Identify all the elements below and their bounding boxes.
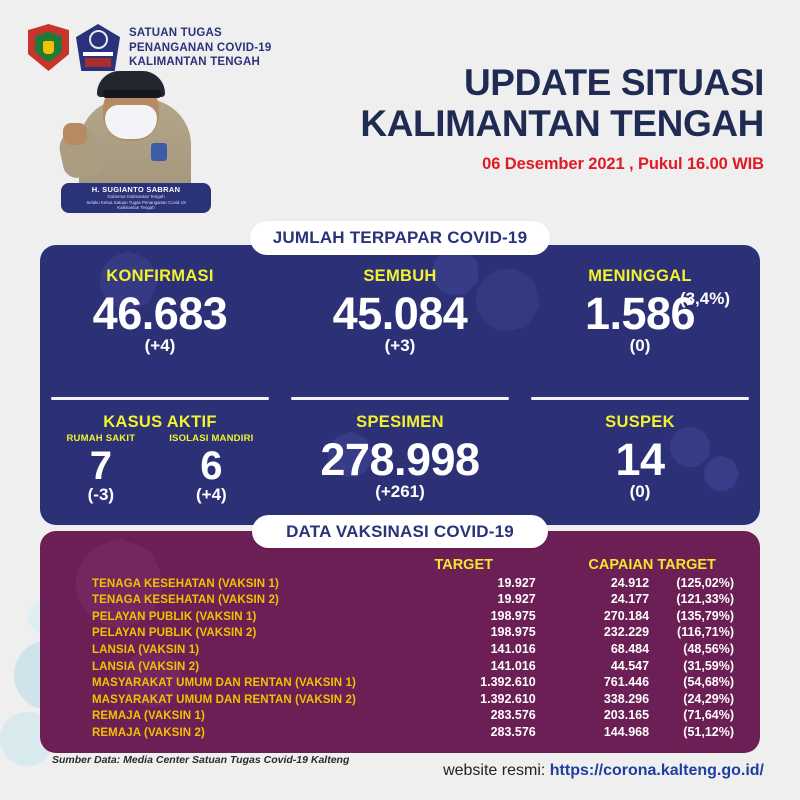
covid-stats-panel: KONFIRMASI 46.683 (+4) SEMBUH 45.084 (+3…: [40, 245, 760, 525]
org-line-1: SATUAN TUGAS: [129, 26, 271, 41]
table-row: REMAJA (VAKSIN 2) 283.576 144.968 (51,12…: [92, 725, 734, 739]
table-row: REMAJA (VAKSIN 1) 283.576 203.165 (71,64…: [92, 708, 734, 722]
vaccination-table: TARGET CAPAIAN TARGET TENAGA KESEHATAN (…: [40, 531, 760, 739]
stat-suspek: SUSPEK 14 (0): [520, 413, 760, 525]
row-category: PELAYAN PUBLIK (VAKSIN 1): [92, 611, 394, 623]
stats-row-bottom: KASUS AKTIF RUMAH SAKIT 7 (-3) ISOLASI M…: [40, 413, 760, 525]
row-target: 19.927: [394, 592, 536, 606]
stat-value: 1.586: [585, 290, 695, 338]
stat-kasus-aktif: KASUS AKTIF RUMAH SAKIT 7 (-3) ISOLASI M…: [40, 413, 280, 525]
row-achievement: 270.184: [536, 609, 649, 623]
row-achievement: 338.296: [536, 692, 649, 706]
governor-title-3: Kalimantan Tengah: [117, 205, 155, 211]
table-row: LANSIA (VAKSIN 2) 141.016 44.547 (31,59%…: [92, 659, 734, 673]
stat-delta: (+4): [145, 336, 176, 356]
table-row: PELAYAN PUBLIK (VAKSIN 2) 198.975 232.22…: [92, 625, 734, 639]
row-achievement: 203.165: [536, 708, 649, 722]
stat-value: 46.683: [93, 290, 228, 338]
row-achievement: 68.484: [536, 642, 649, 656]
governor-name: H. SUGIANTO SABRAN: [92, 185, 181, 194]
stat-label: KASUS AKTIF: [103, 413, 217, 432]
table-row: MASYARAKAT UMUM DAN RENTAN (VAKSIN 1) 1.…: [92, 675, 734, 689]
row-percentage: (71,64%): [649, 708, 734, 722]
stats-divider-group: [40, 397, 760, 400]
stat-sublabel: ISOLASI MANDIRI: [169, 433, 253, 444]
vaccination-table-header: TARGET CAPAIAN TARGET: [92, 557, 734, 573]
column-header-achievement: CAPAIAN TARGET: [534, 557, 734, 573]
title-line-2: KALIMANTAN TENGAH: [360, 103, 764, 144]
table-row: MASYARAKAT UMUM DAN RENTAN (VAKSIN 2) 1.…: [92, 692, 734, 706]
stat-konfirmasi: KONFIRMASI 46.683 (+4): [40, 267, 280, 407]
row-category: REMAJA (VAKSIN 1): [92, 710, 394, 722]
row-category: LANSIA (VAKSIN 2): [92, 661, 394, 673]
column-header-target: TARGET: [393, 557, 534, 573]
row-category: TENAGA KESEHATAN (VAKSIN 1): [92, 578, 394, 590]
divider-line: [531, 397, 749, 400]
row-target: 198.975: [394, 625, 536, 639]
stats-row-top: KONFIRMASI 46.683 (+4) SEMBUH 45.084 (+3…: [40, 267, 760, 407]
stat-value: 7: [90, 445, 112, 487]
page-title: UPDATE SITUASI KALIMANTAN TENGAH 06 Dese…: [360, 62, 764, 174]
stat-label: MENINGGAL: [588, 267, 692, 286]
row-percentage: (135,79%): [649, 609, 734, 623]
table-row: PELAYAN PUBLIK (VAKSIN 1) 198.975 270.18…: [92, 609, 734, 623]
row-target: 141.016: [394, 642, 536, 656]
row-percentage: (51,12%): [649, 725, 734, 739]
vaccination-data-panel: TARGET CAPAIAN TARGET TENAGA KESEHATAN (…: [40, 531, 760, 753]
row-target: 283.576: [394, 708, 536, 722]
stat-value: 6: [200, 445, 222, 487]
row-achievement: 24.177: [536, 592, 649, 606]
stat-label: KONFIRMASI: [106, 267, 214, 286]
row-category: REMAJA (VAKSIN 2): [92, 727, 394, 739]
stat-meninggal: MENINGGAL (3,4%) 1.586 (0): [520, 267, 760, 407]
stat-value: 278.998: [320, 436, 479, 484]
stat-delta: (-3): [88, 485, 114, 505]
data-source-note: Sumber Data: Media Center Satuan Tugas C…: [52, 754, 349, 766]
face-mask-icon: [105, 105, 157, 139]
table-row: TENAGA KESEHATAN (VAKSIN 2) 19.927 24.17…: [92, 592, 734, 606]
row-category: MASYARAKAT UMUM DAN RENTAN (VAKSIN 1): [92, 677, 394, 689]
stat-kasus-rumah-sakit: RUMAH SAKIT 7 (-3): [67, 433, 136, 505]
table-row: LANSIA (VAKSIN 1) 141.016 68.484 (48,56%…: [92, 642, 734, 656]
stat-label: SEMBUH: [363, 267, 436, 286]
org-line-2: PENANGANAN COVID-19: [129, 41, 271, 56]
row-target: 283.576: [394, 725, 536, 739]
row-percentage: (125,02%): [649, 576, 734, 590]
row-achievement: 24.912: [536, 576, 649, 590]
stat-delta: (+261): [375, 482, 425, 502]
stat-delta: (0): [630, 482, 651, 502]
row-target: 1.392.610: [394, 675, 536, 689]
stat-label: SPESIMEN: [356, 413, 444, 432]
governor-photo: H. SUGIANTO SABRAN Gubernur Kalimantan T…: [55, 55, 215, 203]
stat-value: 14: [615, 436, 664, 484]
header-section: SATUAN TUGAS PENANGANAN COVID-19 KALIMAN…: [0, 0, 800, 212]
stat-kasus-isolasi-mandiri: ISOLASI MANDIRI 6 (+4): [169, 433, 253, 505]
stat-delta: (0): [630, 336, 651, 356]
row-achievement: 144.968: [536, 725, 649, 739]
row-category: PELAYAN PUBLIK (VAKSIN 2): [92, 627, 394, 639]
row-target: 19.927: [394, 576, 536, 590]
stat-delta: (+3): [385, 336, 416, 356]
row-achievement: 232.229: [536, 625, 649, 639]
section-badge-terpapar: JUMLAH TERPAPAR COVID-19: [250, 221, 550, 255]
divider-line: [51, 397, 269, 400]
stat-percentage: (3,4%): [680, 289, 730, 309]
row-target: 141.016: [394, 659, 536, 673]
row-category: LANSIA (VAKSIN 1): [92, 644, 394, 656]
stat-spesimen: SPESIMEN 278.998 (+261): [280, 413, 520, 525]
row-target: 198.975: [394, 609, 536, 623]
divider-line: [291, 397, 509, 400]
website-label: website resmi:: [443, 762, 550, 779]
website-url[interactable]: https://corona.kalteng.go.id/: [550, 762, 764, 779]
stat-value: 45.084: [333, 290, 468, 338]
stat-sembuh: SEMBUH 45.084 (+3): [280, 267, 520, 407]
row-percentage: (48,56%): [649, 642, 734, 656]
official-website: website resmi: https://corona.kalteng.go…: [443, 762, 764, 780]
row-percentage: (24,29%): [649, 692, 734, 706]
stat-sublabel: RUMAH SAKIT: [67, 433, 136, 444]
row-percentage: (116,71%): [649, 625, 734, 639]
title-line-1: UPDATE SITUASI: [360, 62, 764, 103]
row-achievement: 761.446: [536, 675, 649, 689]
section-badge-vaksinasi: DATA VAKSINASI COVID-19: [252, 515, 548, 548]
row-category: MASYARAKAT UMUM DAN RENTAN (VAKSIN 2): [92, 694, 394, 706]
row-category: TENAGA KESEHATAN (VAKSIN 2): [92, 594, 394, 606]
row-percentage: (54,68%): [649, 675, 734, 689]
row-target: 1.392.610: [394, 692, 536, 706]
stat-label: SUSPEK: [605, 413, 675, 432]
stat-delta: (+4): [196, 485, 227, 505]
report-datetime: 06 Desember 2021 , Pukul 16.00 WIB: [360, 155, 764, 174]
table-row: TENAGA KESEHATAN (VAKSIN 1) 19.927 24.91…: [92, 576, 734, 590]
row-achievement: 44.547: [536, 659, 649, 673]
governor-nameplate: H. SUGIANTO SABRAN Gubernur Kalimantan T…: [61, 183, 211, 213]
row-percentage: (121,33%): [649, 592, 734, 606]
row-percentage: (31,59%): [649, 659, 734, 673]
